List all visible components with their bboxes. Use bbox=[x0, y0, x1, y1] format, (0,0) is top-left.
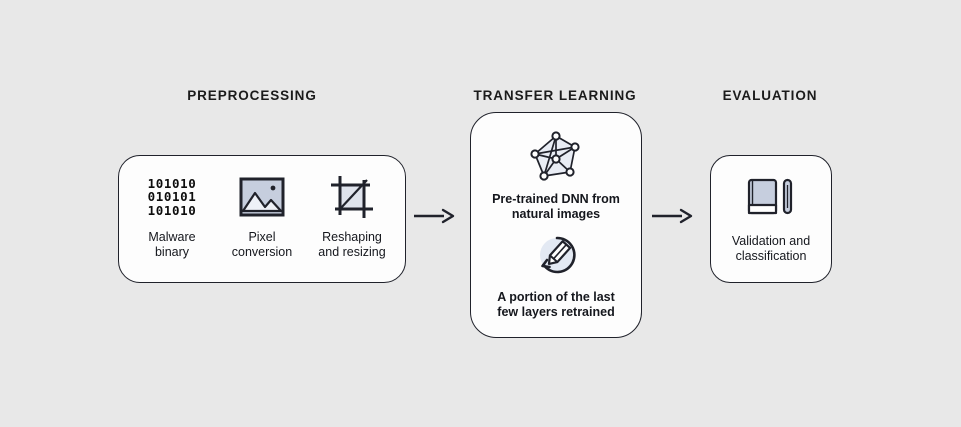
stage-title-transfer-learning: TRANSFER LEARNING bbox=[473, 88, 636, 103]
arrow-right-icon bbox=[412, 206, 456, 226]
tl-item-label: Pre-trained DNN from natural images bbox=[492, 192, 620, 222]
prep-item-label: Pixel conversion bbox=[232, 230, 292, 260]
tl-item-retrained-layers: A portion of the last few layers retrain… bbox=[497, 228, 615, 320]
panel-transfer-learning: Pre-trained DNN from natural images bbox=[470, 112, 642, 338]
book-and-pen-icon bbox=[745, 174, 797, 224]
prep-item-malware-binary: 101010 010101 101010 Malware binary bbox=[129, 172, 215, 260]
stage-title-evaluation: EVALUATION bbox=[723, 88, 818, 103]
neural-network-icon bbox=[526, 130, 586, 186]
diagram-canvas: PREPROCESSING TRANSFER LEARNING EVALUATI… bbox=[0, 0, 961, 427]
transfer-learning-item-list: Pre-trained DNN from natural images bbox=[471, 113, 641, 337]
retrain-pencil-circular-arrow-icon bbox=[530, 228, 582, 284]
panel-evaluation: Validation and classification bbox=[710, 155, 832, 283]
image-picture-icon bbox=[239, 172, 285, 222]
crop-resize-icon bbox=[329, 172, 375, 222]
stage-title-preprocessing: PREPROCESSING bbox=[187, 88, 316, 103]
arrow-right-icon bbox=[650, 206, 694, 226]
prep-item-pixel-conversion: Pixel conversion bbox=[219, 172, 305, 260]
tl-item-label: A portion of the last few layers retrain… bbox=[497, 290, 615, 320]
prep-item-reshaping-resizing: Reshaping and resizing bbox=[309, 172, 395, 260]
binary-digits-text: 101010 010101 101010 bbox=[148, 177, 197, 218]
binary-digits-icon: 101010 010101 101010 bbox=[148, 172, 197, 222]
tl-item-pretrained-dnn: Pre-trained DNN from natural images bbox=[492, 130, 620, 222]
evaluation-item-label: Validation and classification bbox=[732, 234, 810, 264]
prep-item-label: Reshaping and resizing bbox=[318, 230, 385, 260]
preprocessing-item-list: 101010 010101 101010 Malware binary Pixe… bbox=[119, 156, 405, 282]
prep-item-label: Malware binary bbox=[148, 230, 195, 260]
evaluation-item-list: Validation and classification bbox=[711, 156, 831, 282]
panel-preprocessing: 101010 010101 101010 Malware binary Pixe… bbox=[118, 155, 406, 283]
